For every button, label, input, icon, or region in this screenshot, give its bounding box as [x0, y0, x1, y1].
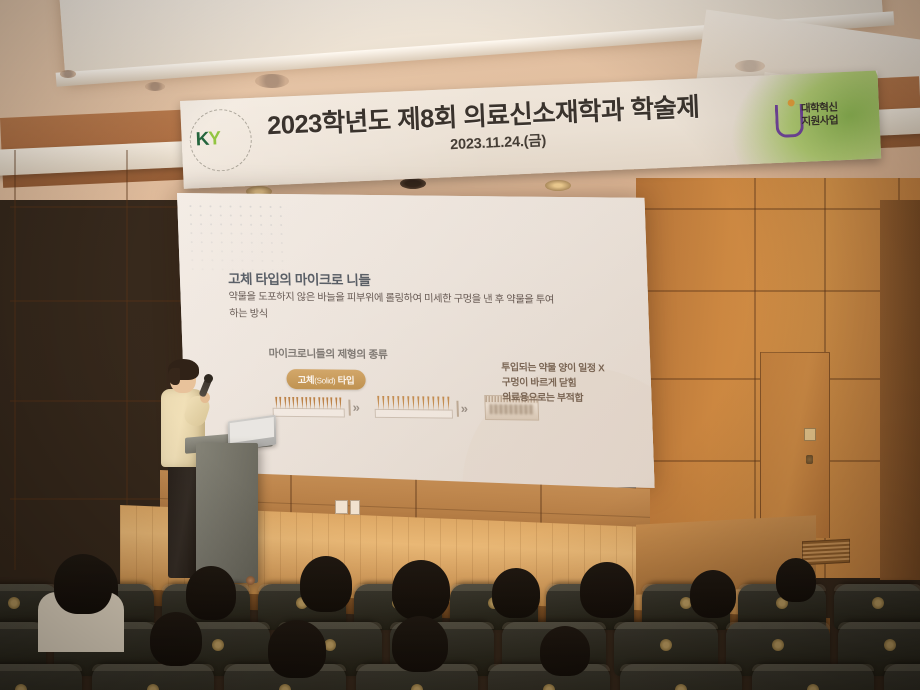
stage-door[interactable]	[760, 352, 830, 538]
door-handle-icon[interactable]	[806, 455, 813, 464]
slide-title: 고체 타입의 마이크로 니들	[228, 267, 371, 288]
audience-head	[268, 620, 326, 678]
needle-scale-tick	[348, 400, 351, 416]
diagram-step-1	[272, 391, 345, 418]
needle-array	[377, 395, 450, 411]
audience-seat	[752, 664, 874, 690]
ceiling-speaker-icon	[60, 70, 76, 78]
seat-crest-icon	[772, 639, 784, 651]
seat-crest-icon	[212, 639, 224, 651]
badge-label: 고체	[297, 374, 314, 385]
needle-array	[275, 394, 342, 410]
audience-seat	[92, 664, 214, 690]
slide-body-text: 약물을 도포하지 않은 바늘을 피부위에 롤링하여 미세한 구멍을 낸 후 약물…	[228, 289, 559, 326]
audience-head	[186, 566, 236, 620]
ceiling-light-icon	[255, 74, 289, 88]
auditorium-photo: KY 2023학년도 제8회 의료신소재학과 학술제 2023.11.24.(금…	[0, 0, 920, 690]
slide-note-1: 투입되는 약물 양이 일정 X	[501, 360, 642, 377]
speaker-hair-side	[168, 368, 180, 385]
audience-seat	[0, 664, 82, 690]
diagram-arrow-2: »	[460, 401, 468, 416]
audience-head	[150, 612, 202, 666]
audience-head	[690, 570, 736, 618]
audience-head	[54, 554, 112, 614]
audience-seat	[884, 664, 920, 690]
slide-type-badge: 고체(Solid) 타입	[286, 369, 365, 390]
diagram-arrow-1: »	[352, 400, 360, 415]
ceiling-speaker-icon	[145, 82, 165, 91]
seat-crest-icon	[807, 684, 819, 690]
downlight-icon	[400, 178, 426, 189]
seat-rim	[752, 664, 874, 671]
audience-head	[392, 616, 448, 672]
u-mark-icon	[775, 104, 804, 138]
seat-crest-icon	[411, 684, 423, 690]
ceiling-vent-icon	[735, 60, 765, 72]
seat-crest-icon	[15, 684, 27, 690]
wall-outlet-icon	[335, 500, 348, 514]
seat-rim	[726, 622, 830, 629]
slide-section-heading: 마이크로니들의 제형의 종류	[268, 346, 387, 362]
seat-crest-icon	[279, 684, 291, 690]
seat-rim	[838, 622, 920, 629]
ky-logo: KY	[188, 108, 253, 173]
slide-notes: 투입되는 약물 양이 일정 X 구멍이 바르게 닫힘 의료용으로는 부적합	[501, 360, 643, 407]
slide-note-2: 구멍이 바르게 닫힘	[502, 375, 643, 392]
audience-head	[540, 626, 590, 676]
seat-rim	[620, 664, 742, 671]
seat-rim	[614, 622, 718, 629]
seat-rim	[92, 664, 214, 671]
microphone-head-icon	[204, 374, 213, 383]
audience-head	[392, 560, 450, 620]
badge-sublabel: (Solid)	[314, 376, 335, 385]
badge-suffix: 타입	[335, 374, 354, 385]
seat-rim	[0, 584, 58, 591]
wall-far-right	[880, 200, 920, 580]
ky-logo-accent: Y	[208, 128, 221, 149]
diagram-step-2	[374, 392, 453, 419]
seat-crest-icon	[660, 639, 672, 651]
seat-crest-icon	[147, 684, 159, 690]
audience-head	[580, 562, 634, 618]
seat-crest-icon	[872, 597, 884, 609]
laptop-screen	[230, 417, 274, 443]
innovation-program-logo: 대학혁신 지원사업	[775, 97, 873, 145]
slide-note-3: 의료용으로는 부적합	[502, 391, 643, 408]
seat-crest-icon	[884, 639, 896, 651]
seat-crest-icon	[675, 684, 687, 690]
innovation-logo-line2: 지원사업	[801, 114, 838, 129]
innovation-logo-text: 대학혁신 지원사업	[801, 101, 839, 129]
seat-rim	[834, 584, 920, 591]
audience-head	[776, 558, 816, 602]
audience-seat	[620, 664, 742, 690]
banner-date: 2023.11.24.(금)	[450, 129, 547, 154]
audience-head	[300, 556, 352, 612]
seat-crest-icon	[8, 597, 20, 609]
downlight-icon	[545, 180, 571, 191]
audience-head	[492, 568, 540, 618]
ky-logo-text: KY	[195, 128, 220, 151]
seat-crest-icon	[543, 684, 555, 690]
seat-rim	[884, 664, 920, 671]
door-plate-icon	[804, 428, 816, 441]
audience-seating	[0, 560, 920, 690]
wall-switch-icon	[350, 500, 360, 515]
seat-rim	[0, 664, 82, 671]
needle-scale-tick	[456, 401, 459, 417]
